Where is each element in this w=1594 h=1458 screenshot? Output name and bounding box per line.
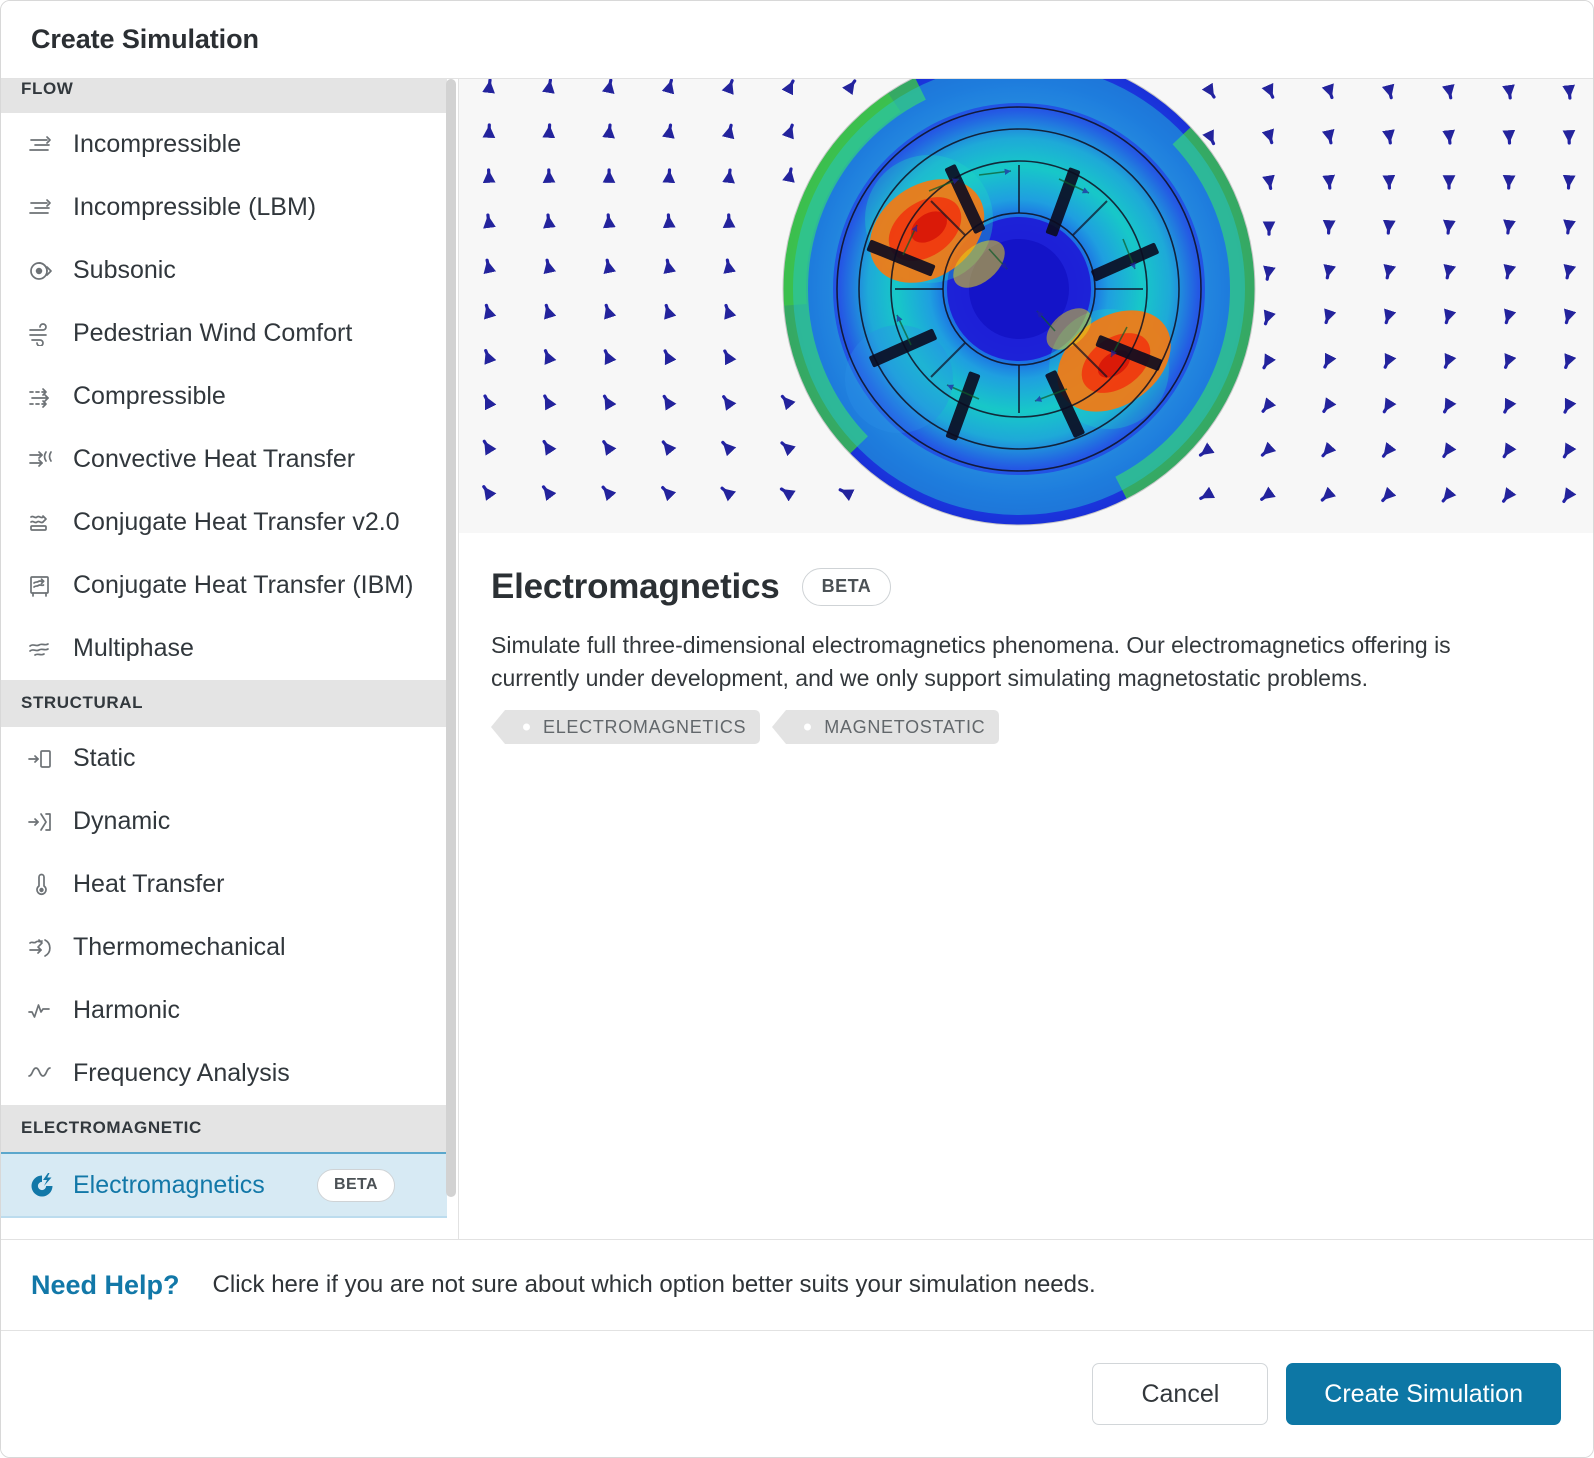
sidebar-item-incompressible-lbm[interactable]: Incompressible (LBM)	[1, 176, 448, 239]
multiphase-waves-icon	[23, 633, 61, 665]
sidebar-item-label: Pedestrian Wind Comfort	[61, 319, 352, 348]
sidebar-item-conjugate-heat-transfer-ibm[interactable]: Conjugate Heat Transfer (IBM)	[1, 554, 448, 617]
sidebar-item-label: Harmonic	[61, 996, 180, 1025]
sidebar-item-harmonic[interactable]: Harmonic	[1, 979, 448, 1042]
dialog-body: FLOWIncompressibleIncompressible (LBM)Su…	[1, 79, 1593, 1239]
detail-tag: MAGNETOSTATIC	[786, 710, 999, 744]
flow-lines-icon	[23, 192, 61, 224]
sidebar-item-frequency-analysis[interactable]: Frequency Analysis	[1, 1042, 448, 1105]
sidebar-group-header-flow: FLOW	[1, 79, 448, 113]
sidebar-item-incompressible[interactable]: Incompressible	[1, 113, 448, 176]
thermomechanical-icon	[23, 932, 61, 964]
sidebar-item-label: Conjugate Heat Transfer (IBM)	[61, 571, 413, 600]
sidebar-group-header-electromagnetic: ELECTROMAGNETIC	[1, 1105, 448, 1152]
tag-dot-icon	[804, 724, 811, 731]
motor-contour-plot	[783, 79, 1255, 525]
sidebar-item-label: Heat Transfer	[61, 870, 224, 899]
detail-beta-badge: BETA	[802, 568, 892, 606]
detail-tag: ELECTROMAGNETICS	[505, 710, 760, 744]
detail-tag-row: ELECTROMAGNETICSMAGNETOSTATIC	[491, 710, 1557, 744]
sidebar-item-multiphase[interactable]: Multiphase	[1, 617, 448, 680]
static-load-icon	[23, 743, 61, 775]
sidebar-item-static[interactable]: Static	[1, 727, 448, 790]
page-title: Create Simulation	[1, 24, 259, 55]
sidebar-item-heat-transfer[interactable]: Heat Transfer	[1, 853, 448, 916]
simulation-type-sidebar: FLOWIncompressibleIncompressible (LBM)Su…	[1, 79, 459, 1239]
conjugate-heat-icon	[23, 507, 61, 539]
subsonic-swirl-icon	[23, 255, 61, 287]
sidebar-item-label: Incompressible	[61, 130, 241, 159]
sidebar-group-header-structural: STRUCTURAL	[1, 680, 448, 727]
sidebar-scrollbar-track[interactable]	[447, 79, 457, 1239]
sidebar-item-label: Static	[61, 744, 136, 773]
detail-title: Electromagnetics	[491, 567, 780, 607]
sidebar-item-label: Multiphase	[61, 634, 194, 663]
sidebar-item-label: Conjugate Heat Transfer v2.0	[61, 508, 400, 537]
sidebar-item-beta-badge: BETA	[317, 1169, 395, 1202]
need-help-link[interactable]: Need Help?	[1, 1270, 180, 1301]
tag-dot-icon	[523, 724, 530, 731]
sidebar-item-label: Thermomechanical	[61, 933, 286, 962]
create-simulation-dialog: Create Simulation FLOWIncompressibleInco…	[0, 0, 1594, 1458]
tag-label: ELECTROMAGNETICS	[543, 717, 746, 738]
dialog-header: Create Simulation	[1, 1, 1593, 79]
create-simulation-button[interactable]: Create Simulation	[1286, 1363, 1561, 1425]
flow-lines-icon	[23, 129, 61, 161]
thermometer-icon	[23, 869, 61, 901]
help-bar: Need Help? Click here if you are not sur…	[1, 1239, 1593, 1331]
sidebar-item-conjugate-heat-transfer-v2-0[interactable]: Conjugate Heat Transfer v2.0	[1, 491, 448, 554]
conjugate-heat-ibm-icon	[23, 570, 61, 602]
sidebar-item-pedestrian-wind-comfort[interactable]: Pedestrian Wind Comfort	[1, 302, 448, 365]
harmonic-wave-icon	[23, 995, 61, 1027]
electromagnetics-visualization	[459, 79, 1592, 533]
sidebar-item-label: Frequency Analysis	[61, 1059, 290, 1088]
detail-description: Simulate full three-dimensional electrom…	[491, 629, 1533, 694]
tag-label: MAGNETOSTATIC	[824, 717, 985, 738]
sidebar-item-electromagnetics[interactable]: ElectromagneticsBETA	[1, 1152, 448, 1218]
sidebar-item-compressible[interactable]: Compressible	[1, 365, 448, 428]
magnet-bolt-icon	[23, 1169, 61, 1201]
help-description: Click here if you are not sure about whi…	[180, 1271, 1096, 1299]
sidebar-item-thermomechanical[interactable]: Thermomechanical	[1, 916, 448, 979]
detail-title-row: Electromagnetics BETA	[491, 567, 1557, 607]
dialog-footer: Cancel Create Simulation	[1, 1331, 1593, 1457]
sidebar-scrollbar-thumb[interactable]	[446, 79, 456, 1197]
sidebar-item-convective-heat-transfer[interactable]: Convective Heat Transfer	[1, 428, 448, 491]
sidebar-scroll-area: FLOWIncompressibleIncompressible (LBM)Su…	[1, 79, 448, 1218]
convective-heat-icon	[23, 444, 61, 476]
detail-content: Electromagnetics BETA Simulate full thre…	[459, 533, 1593, 744]
sidebar-item-label: Incompressible (LBM)	[61, 193, 316, 222]
wind-icon	[23, 318, 61, 350]
sidebar-item-label: Electromagnetics	[61, 1171, 265, 1200]
frequency-wave-icon	[23, 1058, 61, 1090]
cancel-button[interactable]: Cancel	[1092, 1363, 1268, 1425]
sidebar-item-label: Convective Heat Transfer	[61, 445, 355, 474]
sidebar-item-label: Compressible	[61, 382, 226, 411]
sidebar-item-label: Dynamic	[61, 807, 170, 836]
sidebar-item-subsonic[interactable]: Subsonic	[1, 239, 448, 302]
detail-panel: Electromagnetics BETA Simulate full thre…	[459, 79, 1593, 1239]
dynamic-load-icon	[23, 806, 61, 838]
sidebar-item-label: Subsonic	[61, 256, 176, 285]
sidebar-item-dynamic[interactable]: Dynamic	[1, 790, 448, 853]
compressible-arrows-icon	[23, 381, 61, 413]
preview-image	[459, 79, 1593, 533]
